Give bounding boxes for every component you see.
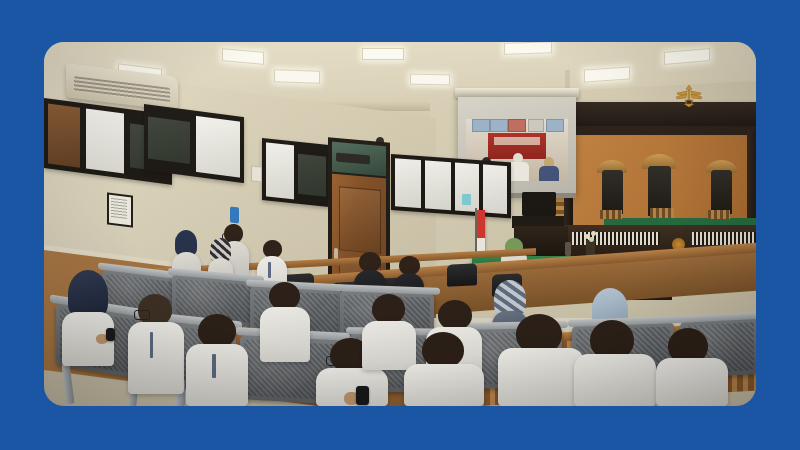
teal-wall-tag [462, 194, 471, 205]
blue-wall-switch[interactable] [230, 206, 239, 223]
bench-carving-right [708, 210, 730, 219]
vc-thumbnail-4 [528, 119, 544, 132]
attendee-man-glasses [128, 294, 184, 394]
attendee-man-row4-c [574, 320, 656, 406]
ceiling-light-3 [274, 69, 320, 84]
black-chair-4 [447, 263, 477, 287]
attendee-man-row4-b [498, 314, 584, 406]
courtroom-photograph [44, 42, 756, 406]
vc-room-banner [494, 137, 540, 145]
window-band-right [391, 154, 511, 218]
judge-chair-right [711, 170, 732, 214]
ceiling-light-4 [362, 48, 404, 60]
water-bottle [565, 242, 571, 256]
vc-thumbnail-3 [508, 119, 526, 132]
ceiling-light-5 [504, 42, 552, 55]
framed-notice [107, 192, 133, 227]
garuda-emblem-icon [674, 82, 704, 108]
attendee-man-row3-a [260, 282, 310, 362]
ceiling-light-8 [410, 74, 450, 86]
flower-vase [586, 240, 595, 256]
bench-carving-left [600, 210, 622, 219]
attendee-man-row4-d [656, 328, 728, 406]
attendee-man-center-front [186, 314, 248, 406]
vc-participant-right [538, 155, 560, 181]
white-wall-switch[interactable] [251, 165, 262, 182]
bench-carving-center [650, 208, 674, 218]
judge-chair-left [602, 170, 623, 214]
attendee-man-row4-a [404, 332, 484, 406]
vc-thumbnail-5 [546, 119, 564, 132]
vc-thumbnail-1 [472, 119, 490, 132]
vc-thumbnail-2 [490, 119, 508, 132]
window-band-mid [262, 138, 330, 207]
screenshot-canvas [0, 0, 800, 450]
clerk-monitor [522, 192, 556, 216]
attendee-hijab-navy-front [62, 270, 114, 366]
window-band-center-left [144, 104, 244, 183]
